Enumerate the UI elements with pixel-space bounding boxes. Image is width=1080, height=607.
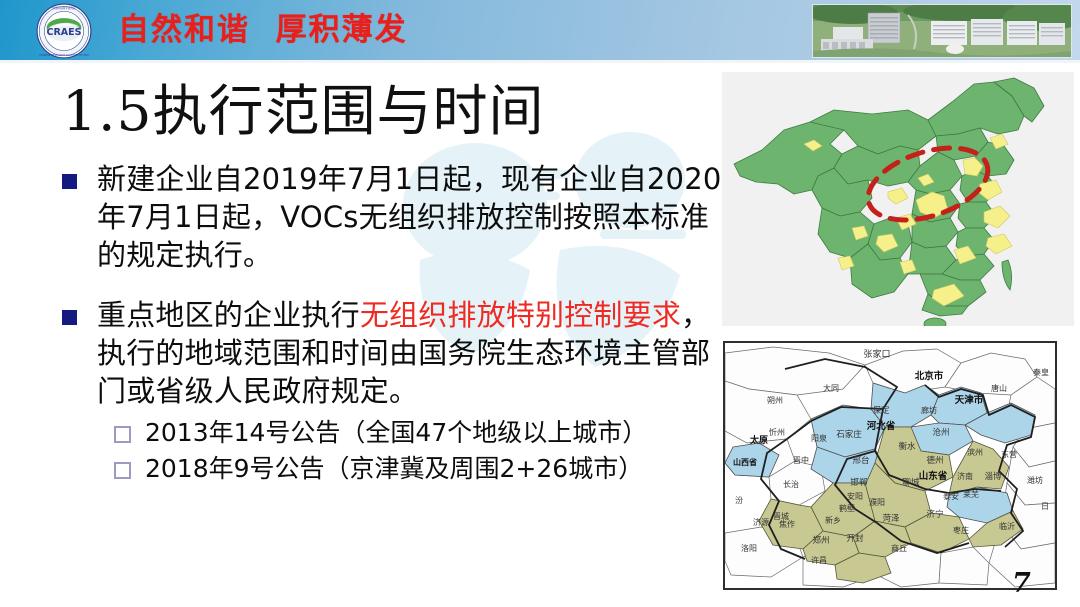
bullet-spacer — [62, 274, 722, 296]
svg-text:德州: 德州 — [926, 455, 943, 466]
slide-body: 新建企业自2019年7月1日起，现有企业自2020年7月1日起，VOCs无组织排… — [62, 160, 722, 488]
svg-text:中国环境科学研究院: 中国环境科学研究院 — [52, 6, 76, 10]
svg-text:大同: 大同 — [823, 383, 839, 393]
square-bullet-icon — [62, 310, 77, 325]
svg-text:潍坊: 潍坊 — [1027, 475, 1043, 485]
china-map-image — [722, 72, 1074, 326]
svg-text:鹤壁: 鹤壁 — [839, 503, 855, 513]
bullet-2-highlight: 无组织排放特别控制要求 — [360, 298, 681, 332]
sub-bullet-item-2: 2018年9号公告（京津冀及周围2+26城市） — [114, 452, 722, 486]
sub-bullet-item-1: 2013年14号公告（全国47个地级以上城市） — [114, 416, 722, 450]
svg-text:濮阳: 濮阳 — [869, 497, 885, 507]
svg-text:晋中: 晋中 — [793, 455, 809, 465]
svg-text:汾: 汾 — [735, 495, 743, 505]
svg-text:菏泽: 菏泽 — [882, 513, 900, 524]
svg-text:张家口: 张家口 — [863, 348, 890, 360]
svg-text:滨州: 滨州 — [967, 447, 983, 457]
svg-text:聊城: 聊城 — [902, 477, 920, 488]
svg-text:朔州: 朔州 — [767, 395, 783, 405]
svg-text:山东省: 山东省 — [919, 470, 948, 482]
svg-text:石家庄: 石家庄 — [836, 429, 862, 440]
sub-bullet-text-1: 2013年14号公告（全国47个地级以上城市） — [145, 416, 647, 450]
craes-logo-icon: CRAES 中国环境科学研究院 CHINESE RESEARCH ACADEMY… — [36, 3, 92, 59]
bullet-2-segment-1: 重点地区的企业执行 — [97, 298, 360, 332]
svg-text:东营: 东营 — [1001, 449, 1017, 459]
square-bullet-icon — [62, 174, 77, 189]
svg-text:日: 日 — [1041, 502, 1049, 511]
svg-text:河北省: 河北省 — [867, 420, 896, 432]
campus-aerial-photo — [812, 4, 1072, 58]
svg-text:衡水: 衡水 — [898, 441, 916, 452]
logo-wordmark: CRAES — [46, 27, 81, 38]
svg-text:太原: 太原 — [749, 434, 768, 446]
svg-text:淄博: 淄博 — [984, 471, 1002, 482]
svg-text:临沂: 临沂 — [999, 521, 1015, 531]
svg-text:济源: 济源 — [753, 517, 769, 527]
page-number: 7 — [1012, 568, 1031, 599]
svg-text:阳泉: 阳泉 — [811, 433, 827, 443]
bullet-text-1: 新建企业自2019年7月1日起，现有企业自2020年7月1日起，VOCs无组织排… — [97, 160, 722, 274]
svg-text:廊坊: 廊坊 — [921, 405, 937, 415]
svg-text:山西省: 山西省 — [733, 457, 757, 467]
bullet-1-segment-1: 新建企业自2019年7月1日起，现有企业自2020年7月1日起，VOCs无组织排… — [97, 162, 722, 272]
svg-text:天津市: 天津市 — [955, 394, 984, 406]
svg-text:沧州: 沧州 — [932, 427, 949, 438]
svg-text:北京市: 北京市 — [915, 370, 944, 382]
bullet-item-2: 重点地区的企业执行无组织排放特别控制要求，执行的地域范围和时间由国务院生态环境主… — [62, 296, 722, 410]
sub-bullet-text-2: 2018年9号公告（京津冀及周围2+26城市） — [145, 452, 643, 486]
beijing-tianjin-hebei-region-map: 张家口 大同 朔州 忻州 太原 阳泉 晋中 长治 晋城 山西省 北京市 天津市 … — [723, 341, 1057, 590]
svg-text:莱芜: 莱芜 — [963, 489, 979, 499]
svg-text:商丘: 商丘 — [891, 543, 907, 553]
svg-text:泰安: 泰安 — [943, 491, 959, 501]
hollow-square-bullet-icon — [114, 426, 131, 443]
svg-text:秦皇: 秦皇 — [1033, 367, 1049, 377]
sub-bullet-list: 2013年14号公告（全国47个地级以上城市） 2018年9号公告（京津冀及周围… — [114, 416, 722, 486]
bullet-text-2: 重点地区的企业执行无组织排放特别控制要求，执行的地域范围和时间由国务院生态环境主… — [97, 296, 722, 410]
svg-text:许昌: 许昌 — [811, 555, 827, 565]
presentation-slide: CRAES 中国环境科学研究院 CHINESE RESEARCH ACADEMY… — [0, 0, 1080, 607]
bullet-item-1: 新建企业自2019年7月1日起，现有企业自2020年7月1日起，VOCs无组织排… — [62, 160, 722, 274]
svg-text:保定: 保定 — [872, 405, 890, 416]
header-divider — [0, 60, 1080, 63]
svg-text:开封: 开封 — [846, 533, 864, 544]
svg-text:郑州: 郑州 — [812, 535, 829, 546]
svg-text:唐山: 唐山 — [991, 383, 1007, 393]
svg-text:邢台: 邢台 — [852, 455, 869, 466]
svg-text:洛阳: 洛阳 — [741, 543, 757, 553]
page-title: 1.5执行范围与时间 — [62, 66, 544, 146]
svg-text:长治: 长治 — [783, 479, 799, 489]
svg-text:安阳: 安阳 — [847, 491, 863, 501]
svg-text:邯郸: 邯郸 — [850, 477, 868, 488]
svg-text:新乡: 新乡 — [825, 515, 841, 525]
hollow-square-bullet-icon — [114, 462, 131, 479]
svg-text:焦作: 焦作 — [779, 519, 795, 529]
svg-text:济宁: 济宁 — [926, 509, 943, 520]
header-slogan: 自然和谐 厚积薄发 — [118, 8, 408, 52]
svg-text:济南: 济南 — [957, 471, 973, 481]
svg-text:忻州: 忻州 — [769, 427, 785, 437]
svg-text:枣庄: 枣庄 — [953, 525, 969, 535]
svg-text:CHINESE RESEARCH ACADEMY OF EN: CHINESE RESEARCH ACADEMY OF ENV — [39, 53, 89, 57]
